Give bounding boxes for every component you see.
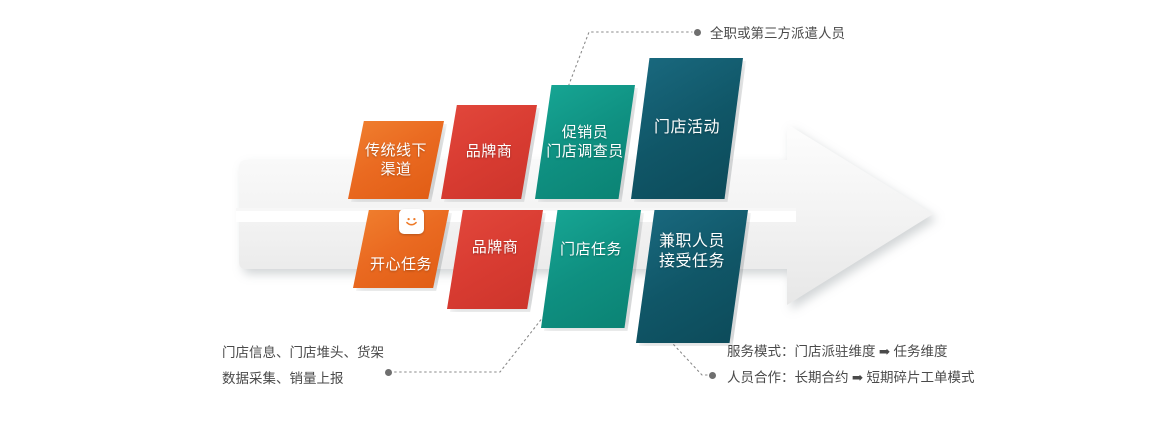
step-top-2-label: 品牌商 bbox=[464, 142, 515, 161]
annotation-staffing-model: 全职或第三方派遣人员 bbox=[710, 21, 845, 47]
step-bottom-3-label: 门店任务 bbox=[558, 240, 624, 259]
connector-dot-bottom-left bbox=[385, 369, 392, 376]
step-bottom-4[interactable]: 兼职人员 接受任务 bbox=[636, 210, 748, 343]
step-top-2[interactable]: 品牌商 bbox=[441, 105, 537, 199]
step-top-3[interactable]: 促销员 门店调查员 bbox=[535, 85, 635, 199]
connector-bottom-left bbox=[392, 312, 547, 372]
diagram-canvas: 传统线下 渠道 品牌商 促销员 门店调查员 门店活动 开心任务 品牌商 门店任务… bbox=[0, 0, 1150, 430]
step-top-1[interactable]: 传统线下 渠道 bbox=[348, 121, 444, 199]
step-top-1-label: 传统线下 渠道 bbox=[363, 141, 429, 179]
smiley-face-icon bbox=[399, 209, 424, 234]
step-bottom-4-label: 兼职人员 接受任务 bbox=[657, 232, 727, 273]
connector-dot-bottom-right bbox=[709, 372, 716, 379]
step-top-4-label: 门店活动 bbox=[652, 118, 722, 138]
step-bottom-2[interactable]: 品牌商 bbox=[447, 210, 543, 309]
step-top-4[interactable]: 门店活动 bbox=[631, 58, 743, 199]
step-top-3-label: 促销员 门店调查员 bbox=[544, 123, 626, 161]
step-bottom-2-label: 品牌商 bbox=[470, 238, 521, 257]
connector-dot-top-right bbox=[694, 29, 701, 36]
annotation-data-collection: 门店信息、门店堆头、货架 数据采集、销量上报 bbox=[222, 340, 384, 393]
smiley-face-glyph bbox=[403, 213, 420, 230]
step-bottom-3[interactable]: 门店任务 bbox=[541, 210, 641, 328]
annotation-service-and-cooperation-model: 服务模式：门店派驻维度 ➡ 任务维度 人员合作：长期合约 ➡ 短期碎片工单模式 bbox=[727, 339, 975, 392]
step-bottom-1-label: 开心任务 bbox=[368, 255, 434, 274]
